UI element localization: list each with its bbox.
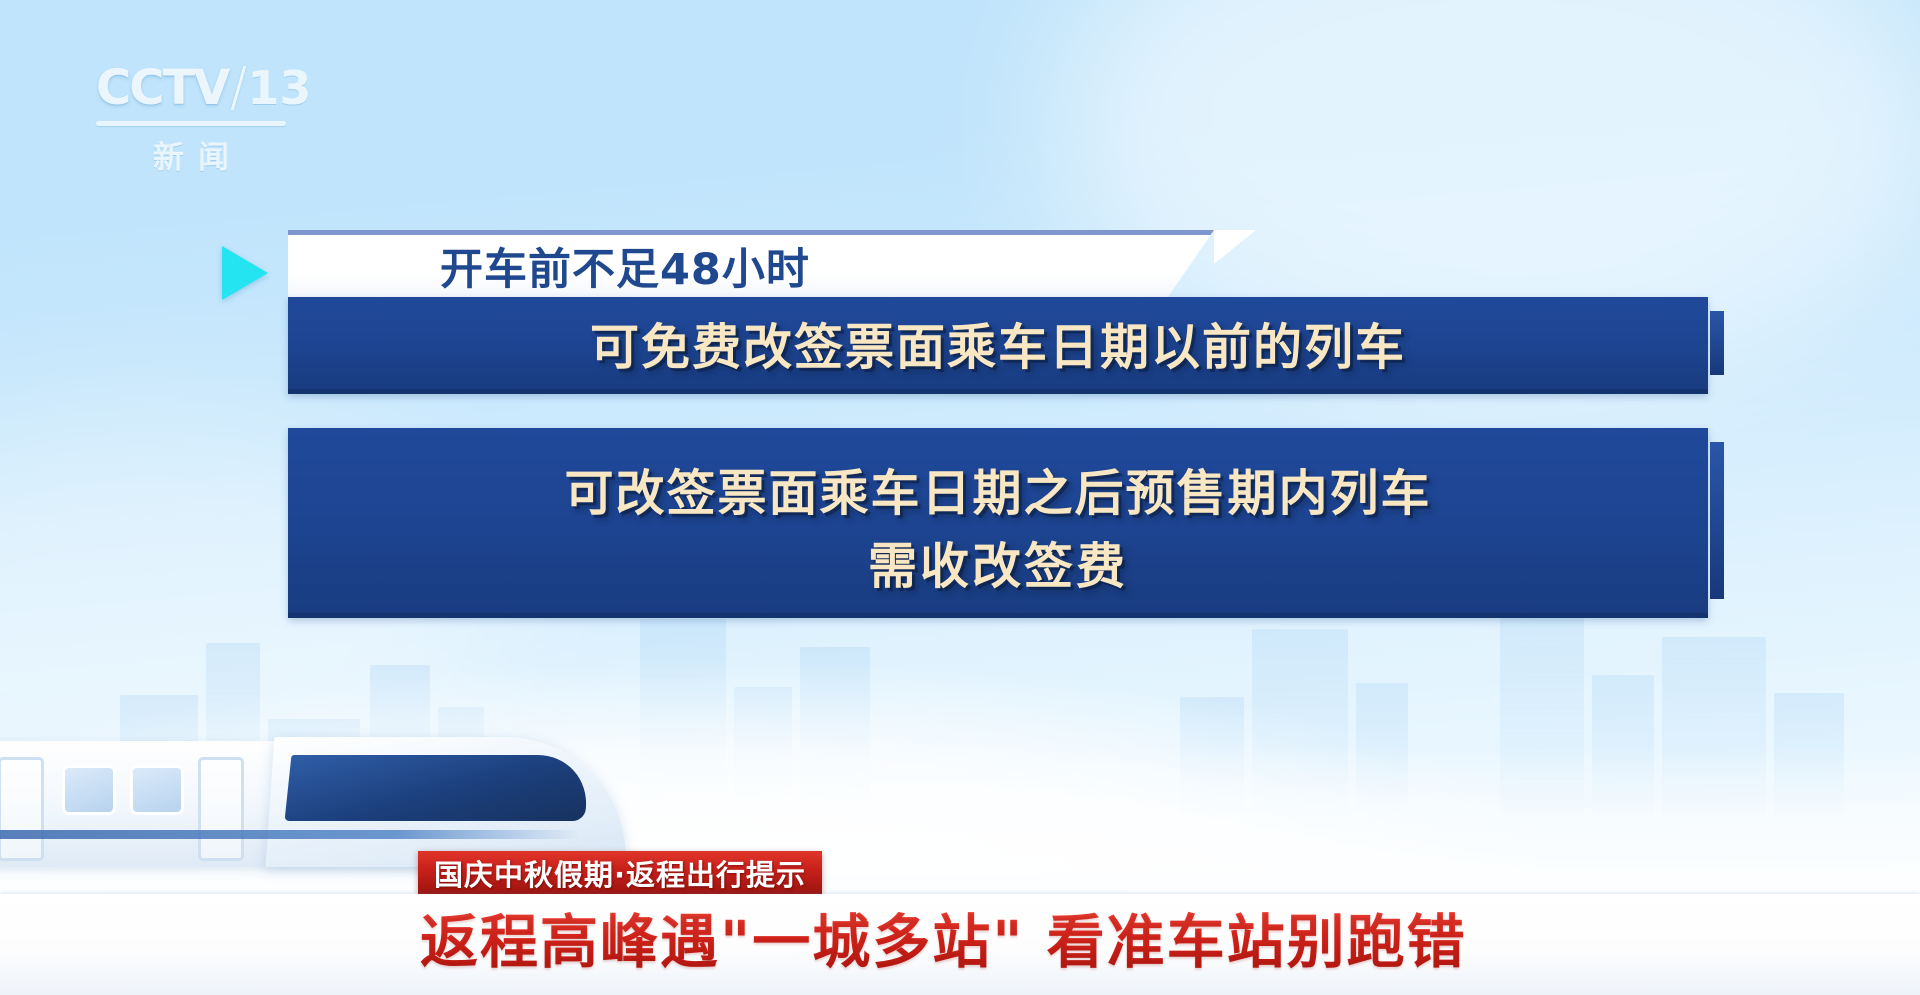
train-illustration: [0, 677, 670, 867]
infographic-row-line: 可改签票面乘车日期之后预售期内列车: [564, 454, 1431, 525]
infographic-panel: 开车前不足48小时 可免费改签票面乘车日期以前的列车 可改签票面乘车日期之后预售…: [288, 230, 1708, 618]
infographic-header: 开车前不足48小时: [288, 230, 1214, 297]
broadcast-frame: CCTV 13 新闻 开车前不足48小时 可免费改签票面乘车日期以前的列车 可改…: [0, 0, 1920, 995]
kicker-label: 国庆中秋假期·返程出行提示: [434, 852, 806, 894]
header-chevron-tip-icon: [1214, 230, 1256, 297]
logo-slash-icon: [231, 66, 247, 110]
logo-underline: [96, 121, 286, 126]
kicker-badge: 国庆中秋假期·返程出行提示: [418, 851, 822, 894]
infographic-row: 可免费改签票面乘车日期以前的列车: [288, 297, 1708, 394]
train-door: [0, 757, 44, 861]
train-window: [130, 765, 184, 815]
cctv-wordmark: CCTV: [96, 64, 228, 112]
train-door: [198, 757, 244, 861]
infographic-row-line-emphasis: 需收改签费: [868, 527, 1128, 598]
train-stripe: [0, 830, 580, 839]
infographic-header-label: 开车前不足48小时: [440, 235, 810, 297]
row-end-cap: [1710, 442, 1724, 599]
channel-number: 13: [247, 65, 311, 111]
train-window: [62, 765, 116, 815]
infographic-row-line: 可免费改签票面乘车日期以前的列车: [590, 308, 1406, 379]
channel-name-cn: 新闻: [96, 132, 286, 177]
train-cab-window: [285, 755, 592, 821]
logo-top-row: CCTV 13: [96, 58, 328, 118]
row-end-cap: [1710, 311, 1724, 375]
infographic-row: 可改签票面乘车日期之后预售期内列车 需收改签费: [288, 428, 1708, 618]
headline-text: 返程高峰遇"一城多站" 看准车站别跑错: [420, 900, 1467, 984]
play-triangle-icon: [222, 246, 268, 300]
cctv-channel-logo: CCTV 13 新闻: [96, 58, 328, 176]
